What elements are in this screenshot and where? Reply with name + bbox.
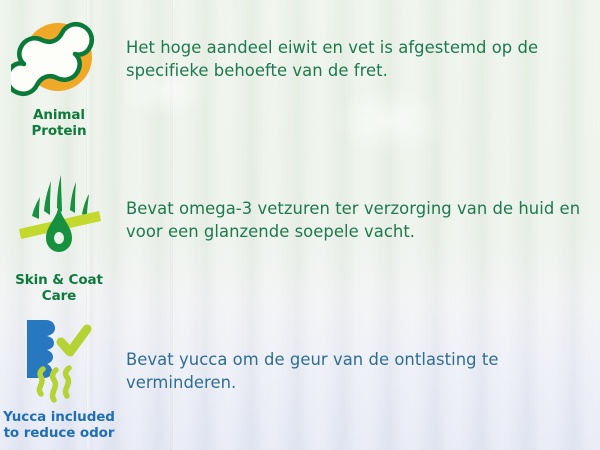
feature-list: Animal Protein Het hoge aandeel eiwit en…	[0, 0, 600, 450]
feature-icon-label: Skin & Coat Care	[15, 273, 103, 305]
feature-icon-column: Yucca included to reduce odor	[0, 312, 118, 442]
feature-text-column: Het hoge aandeel eiwit en vet is afgeste…	[118, 10, 600, 83]
feature-text-column: Bevat yucca om de geur van de ontlasting…	[118, 312, 600, 395]
feature-row: Yucca included to reduce odor Bevat yucc…	[0, 312, 600, 442]
feature-icon-column: Animal Protein	[0, 10, 118, 140]
feature-text-column: Bevat omega-3 vetzuren ter verzorging va…	[118, 175, 600, 244]
feature-row: Animal Protein Het hoge aandeel eiwit en…	[0, 10, 600, 140]
yucca-odor-reduction-icon	[11, 312, 107, 408]
feature-panel: Animal Protein Het hoge aandeel eiwit en…	[0, 0, 600, 450]
feature-icon-label: Animal Protein	[32, 108, 87, 140]
skin-and-coat-care-icon	[11, 175, 107, 271]
feature-icon-label: Yucca included to reduce odor	[3, 410, 115, 442]
feature-description: Bevat yucca om de geur van de ontlasting…	[126, 348, 586, 395]
feature-icon-column: Skin & Coat Care	[0, 175, 118, 305]
feature-description: Bevat omega-3 vetzuren ter verzorging va…	[126, 197, 586, 244]
feature-row: Skin & Coat Care Bevat omega-3 vetzuren …	[0, 175, 600, 305]
animal-protein-icon	[11, 10, 107, 106]
feature-description: Het hoge aandeel eiwit en vet is afgeste…	[126, 36, 586, 83]
